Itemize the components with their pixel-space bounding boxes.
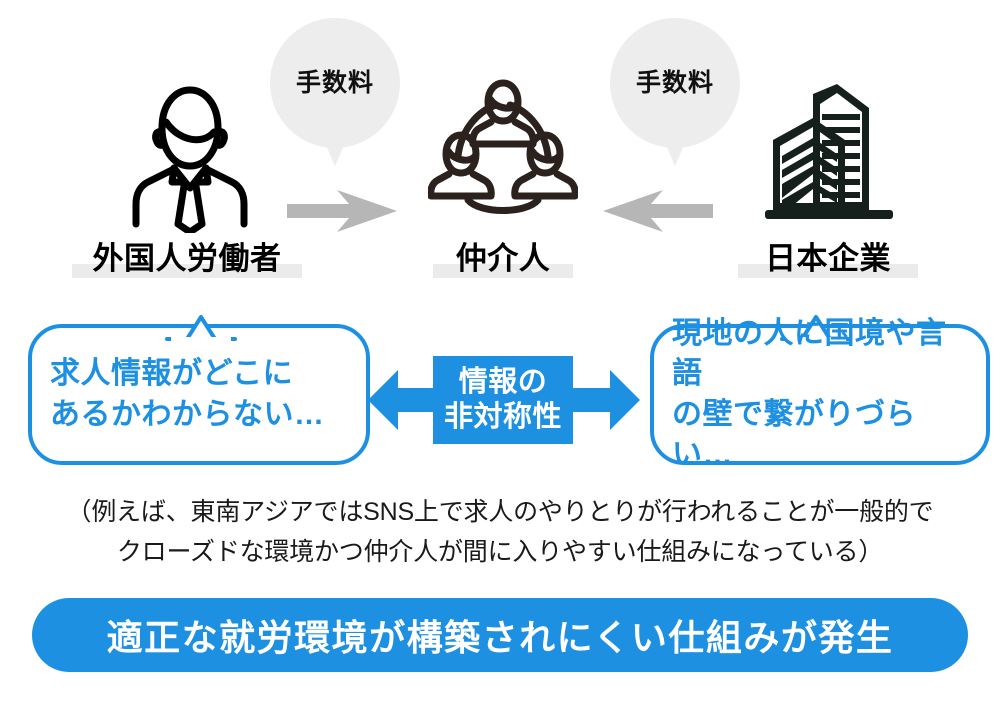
fee-bubble-tail xyxy=(322,136,348,166)
actor-label-text: 仲介人 xyxy=(456,241,551,276)
fee-bubble-worker-to-broker: 手数料 xyxy=(270,18,400,148)
fee-bubble-text: 手数料 xyxy=(610,67,740,99)
speech-line: あるかわからない… xyxy=(50,395,325,436)
left-arrow-icon xyxy=(368,370,442,430)
arrow-company-to-broker-icon xyxy=(603,190,713,232)
center-box-line: 情報の xyxy=(459,365,548,400)
explanatory-note: （例えば、東南アジアではSNS上で求人のやりとりが行われることが一般的で クロー… xyxy=(0,492,1000,572)
speech-bubble-text: 求人情報がどこに あるかわからない… xyxy=(28,324,370,465)
center-box-information-asymmetry: 情報の 非対称性 xyxy=(433,356,573,444)
office-building-icon xyxy=(765,82,895,230)
speech-bubble-company-problem: 現地の人に国境や言語 の壁で繋がりづらい… xyxy=(650,310,990,465)
person-with-tie-icon xyxy=(110,78,270,233)
conclusion-banner-text: 適正な就労環境が構築されにくい仕組みが発生 xyxy=(107,609,894,661)
actor-label-broker: 仲介人 xyxy=(433,243,573,274)
right-arrow-icon xyxy=(566,370,640,430)
actor-label-text: 日本企業 xyxy=(765,241,891,276)
speech-line: の壁で繋がりづらい… xyxy=(672,395,968,476)
arrow-worker-to-broker-icon xyxy=(287,190,397,232)
three-people-network-icon xyxy=(428,78,578,233)
diagram-canvas: 外国人労働者 仲介人 日本企業 手数料 手数料 求人情報がどこに あるかわからな xyxy=(0,0,1000,723)
speech-line: 求人情報がどこに xyxy=(50,354,293,395)
fee-bubble-company-to-broker: 手数料 xyxy=(610,18,740,148)
fee-bubble-text: 手数料 xyxy=(270,67,400,99)
speech-line: 現地の人に国境や言語 xyxy=(672,314,968,395)
speech-bubble-worker-problem: 求人情報がどこに あるかわからない… xyxy=(28,310,370,465)
center-box-line: 非対称性 xyxy=(444,400,562,435)
actor-label-japanese-company: 日本企業 xyxy=(738,243,918,274)
actor-label-text: 外国人労働者 xyxy=(93,241,282,276)
note-line: クローズドな環境かつ仲介人が間に入りやすい仕組みになっている） xyxy=(0,532,1000,572)
fee-bubble-tail xyxy=(662,136,688,166)
speech-bubble-text: 現地の人に国境や言語 の壁で繋がりづらい… xyxy=(650,324,990,465)
conclusion-banner: 適正な就労環境が構築されにくい仕組みが発生 xyxy=(32,598,968,672)
note-line: （例えば、東南アジアではSNS上で求人のやりとりが行われることが一般的で xyxy=(0,492,1000,532)
actor-label-foreign-worker: 外国人労働者 xyxy=(72,243,302,274)
